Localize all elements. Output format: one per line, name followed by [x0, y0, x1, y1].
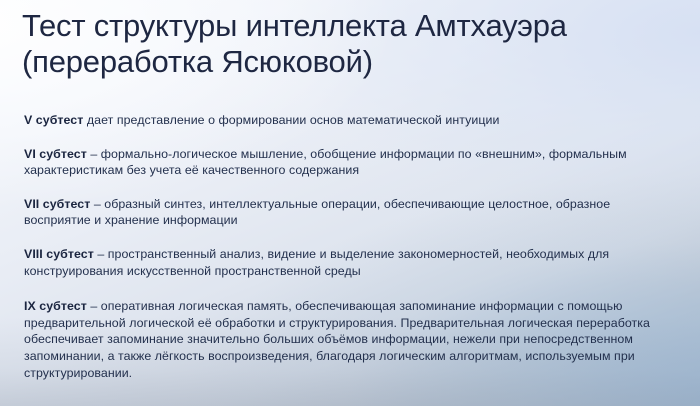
paragraph-subtest-vi: VI субтест – формально-логическое мышлен…: [24, 146, 666, 179]
paragraph-subtest-v: V субтест дает представление о формирова…: [24, 112, 666, 129]
subtest-ix-label: IX субтест: [24, 299, 87, 313]
presentation-slide: Тест структуры интеллекта Амтхауэра (пер…: [0, 0, 700, 406]
paragraph-subtest-vii: VII субтест – образный синтез, интеллект…: [24, 196, 666, 229]
subtest-vii-text: – образный синтез, интеллектуальные опер…: [24, 197, 610, 228]
paragraph-subtest-ix: IX субтест – оперативная логическая памя…: [24, 298, 666, 381]
slide-title: Тест структуры интеллекта Амтхауэра (пер…: [22, 8, 682, 80]
slide-body: V субтест дает представление о формирова…: [24, 112, 666, 381]
paragraph-subtest-viii: VIII субтест – пространственный анализ, …: [24, 246, 666, 279]
subtest-v-label: V субтест: [24, 113, 83, 127]
subtest-ix-text: – оперативная логическая память, обеспеч…: [24, 299, 650, 379]
slide-content: Тест структуры интеллекта Амтхауэра (пер…: [0, 0, 700, 406]
subtest-vi-label: VI субтест: [24, 147, 87, 161]
subtest-vii-label: VII субтест: [24, 197, 90, 211]
subtest-viii-text: – пространственный анализ, видение и выд…: [24, 247, 609, 278]
subtest-v-text: дает представление о формировании основ …: [83, 113, 499, 127]
subtest-viii-label: VIII субтест: [24, 247, 94, 261]
subtest-vi-text: – формально-логическое мышление, обобщен…: [24, 147, 627, 178]
